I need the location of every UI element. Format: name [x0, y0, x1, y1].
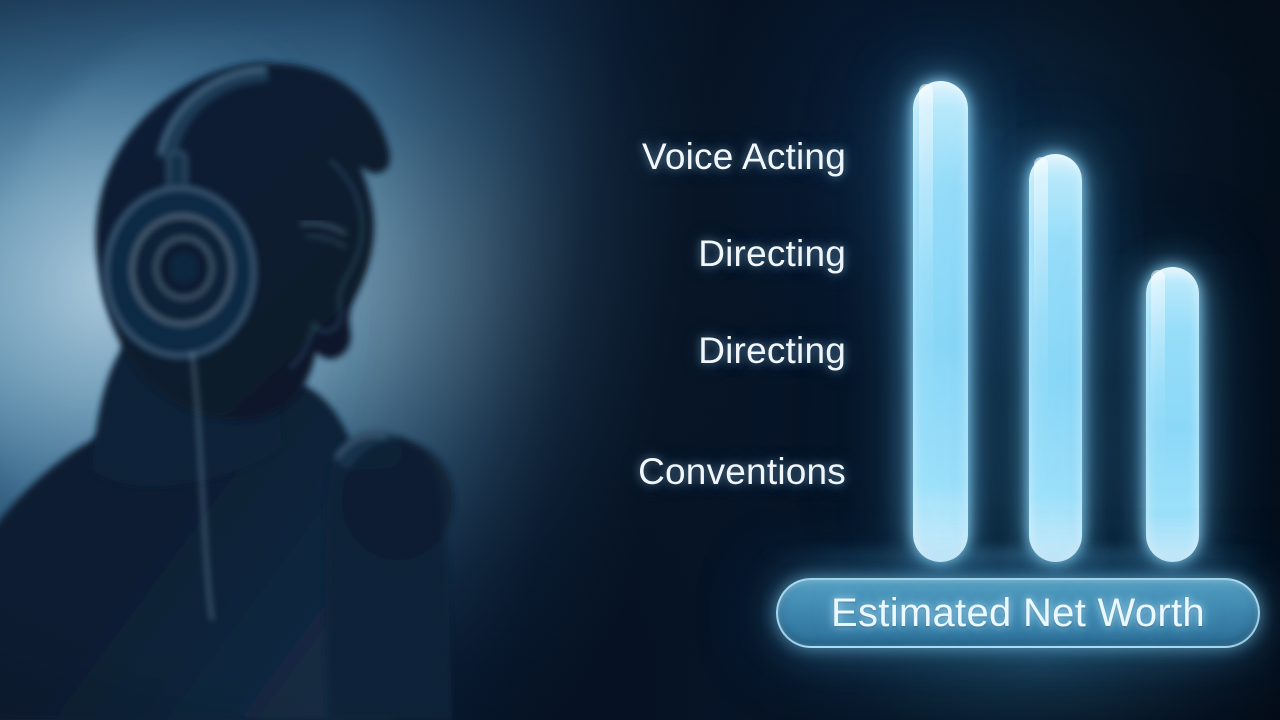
net-worth-bar-chart [880, 0, 1260, 600]
estimated-net-worth-button-label: Estimated Net Worth [831, 591, 1205, 636]
estimated-net-worth-button[interactable]: Estimated Net Worth [776, 578, 1260, 648]
category-label-conventions: Conventions [638, 451, 846, 493]
category-label-directing-1: Directing [698, 233, 846, 275]
bar-conventions [1146, 267, 1199, 562]
bar-directing [1029, 154, 1082, 562]
infographic-canvas: Voice Acting Directing Directing Convent… [0, 0, 1280, 720]
category-label-voice-acting: Voice Acting [642, 136, 846, 178]
voice-actor-silhouette [0, 0, 520, 720]
category-label-directing-2: Directing [698, 330, 846, 372]
bar-voice-acting [913, 81, 968, 562]
